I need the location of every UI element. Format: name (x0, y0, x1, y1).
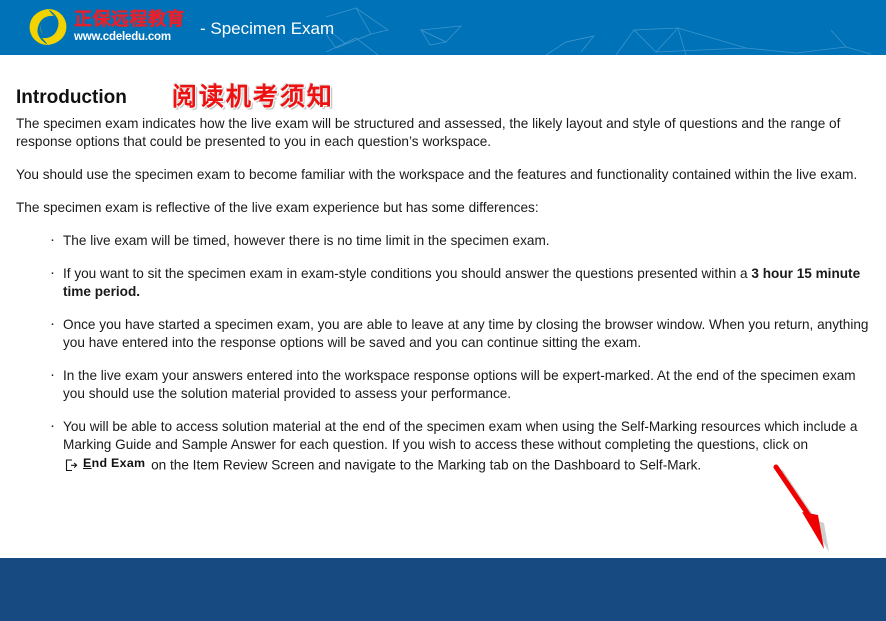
logo-text: 正保远程教育 www.cdeledu.com (74, 11, 185, 44)
exit-arrow-icon (65, 459, 78, 472)
intro-paragraph-1: The specimen exam indicates how the live… (16, 115, 860, 151)
end-exam-label: End Exam (83, 454, 145, 472)
swirl-logo-icon (26, 7, 70, 47)
list-item-text: You will be able to access solution mate… (63, 419, 857, 452)
end-exam-inline-reference: End Exam (65, 454, 145, 472)
specimen-exam-page: 正保远程教育 www.cdeledu.com - Specimen Exam I… (0, 0, 886, 621)
logo[interactable]: 正保远程教育 www.cdeledu.com (26, 7, 185, 47)
list-item: In the live exam your answers entered in… (50, 367, 870, 403)
list-item-text: In the live exam your answers entered in… (63, 368, 856, 401)
intro-paragraph-2: You should use the specimen exam to beco… (16, 166, 860, 184)
chinese-annotation-text: 阅读机考须知 (172, 77, 334, 113)
intro-paragraph-3: The specimen exam is reflective of the l… (16, 199, 860, 217)
app-header: 正保远程教育 www.cdeledu.com - Specimen Exam (0, 0, 886, 55)
list-item-text: Once you have started a specimen exam, y… (63, 317, 869, 350)
list-item-text: The live exam will be timed, however the… (63, 233, 550, 248)
list-item-text: If you want to sit the specimen exam in … (63, 266, 751, 281)
title-row: Introduction 阅读机考须知 (16, 75, 870, 107)
list-item-self-marking: You will be able to access solution mate… (50, 418, 870, 475)
header-title: - Specimen Exam (200, 19, 334, 39)
end-exam-accesskey: E (83, 456, 92, 470)
logo-chinese-name: 正保远程教育 (74, 11, 185, 29)
page-title: Introduction (16, 87, 127, 109)
list-item: Once you have started a specimen exam, y… (50, 316, 870, 352)
list-item-text-after: on the Item Review Screen and navigate t… (147, 458, 701, 473)
content-area: Introduction 阅读机考须知 The specimen exam in… (0, 55, 886, 558)
end-exam-label-rest: nd Exam (92, 456, 146, 470)
list-item: The live exam will be timed, however the… (50, 232, 870, 250)
header-polygon-pattern (326, 0, 886, 55)
footer-bar: Next (0, 558, 886, 621)
logo-website-url: www.cdeledu.com (74, 32, 185, 44)
list-item: If you want to sit the specimen exam in … (50, 265, 870, 301)
differences-list: The live exam will be timed, however the… (16, 232, 870, 475)
